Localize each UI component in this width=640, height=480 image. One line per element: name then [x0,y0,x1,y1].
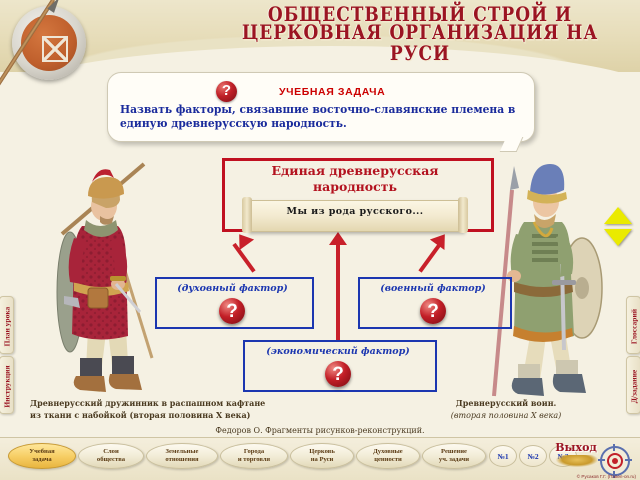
exit-ornament [556,455,598,467]
illustration-druzhinnik [48,162,166,400]
question-ball-icon-military[interactable] [420,298,446,324]
triangle-up-icon[interactable] [604,207,632,224]
caption-right-line-2: (вторая половина X века) [451,411,561,420]
slide-header: ОБЩЕСТВЕННЫЙ СТРОЙ И ЦЕРКОВНАЯ ОРГАНИЗАЦ… [0,0,640,72]
caption-left: Древнерусский дружинник в распашном кафт… [30,398,280,421]
task-label: УЧЕБНАЯ ЗАДАЧА [279,86,385,98]
nav-button-number-1-label: №1 [497,452,508,461]
caption-source: Федоров О. Фрагменты рисунков-реконструк… [160,425,480,437]
side-tab-glossariy-label: Глоссарий [630,299,639,355]
nav-button-sloi-obshchestva-label: Слои общества [97,448,125,463]
shield-inner [21,15,77,71]
task-bubble-header: УЧЕБНАЯ ЗАДАЧА [216,81,466,102]
unity-title-line-2: народность [313,179,397,194]
unity-title: Единая древнерусская народность [222,163,488,194]
nav-button-uchebnaya-zadacha[interactable]: Учебная задача [8,443,76,469]
copyright-text: © Русаков Г.Г. (Павел-on.ru) [577,474,636,479]
shield-boss-icon [42,36,68,62]
arrow-right-shaft [418,243,441,273]
factor-label-spiritual: (духовный фактор) [155,283,310,294]
caption-left-line-2: из ткани с набойкой (вторая половина X в… [30,410,250,420]
arrow-right-head [430,229,452,250]
nav-button-reshenie-uch-zadachi-label: Решение уч. задачи [439,448,469,463]
nav-button-duhovnye-cennosti-label: Духовные ценности [373,448,402,463]
side-tab-domashnee-zadanie-label: Д/задание [630,359,639,415]
target-cross-left [598,459,605,461]
presentation-slide: ОБЩЕСТВЕННЫЙ СТРОЙ И ЦЕРКОВНАЯ ОРГАНИЗАЦ… [0,0,640,480]
side-tab-instrukciya-label: Инструкция [3,359,12,415]
nav-button-number-1[interactable]: №1 [489,445,517,467]
nav-button-sloi-obshchestva[interactable]: Слои общества [78,443,144,469]
triangle-down-icon[interactable] [604,229,632,246]
nav-button-number-2[interactable]: №2 [519,445,547,467]
nav-button-cerkov-na-rusi[interactable]: Церковь на Руси [290,443,354,469]
caption-right-line-1: Древнерусский воин. [456,398,557,408]
factor-label-military: (военный фактор) [358,283,508,294]
target-icon[interactable] [600,446,630,476]
nav-button-number-2-label: №2 [527,452,538,461]
task-text: Назвать факторы, связавшие восточно-слав… [120,103,524,132]
arrow-left-shaft [232,243,255,273]
side-tab-domashnee-zadanie[interactable]: Д/задание [626,356,640,414]
caption-right: Древнерусский воин. (вторая половина X в… [396,398,616,421]
caption-left-line-1: Древнерусский дружинник в распашном кафт… [30,398,265,408]
target-cross-top [613,444,615,451]
task-bubble: УЧЕБНАЯ ЗАДАЧА Назвать факторы, связавши… [107,72,535,142]
arrow-center-shaft [336,244,340,342]
side-tab-glossariy[interactable]: Глоссарий [626,296,640,354]
nav-button-goroda-i-torgovlya-label: Города и торговля [238,448,270,463]
exit-label: Выход [550,441,602,454]
question-ball-icon-spiritual[interactable] [219,298,245,324]
nav-button-goroda-i-torgovlya[interactable]: Города и торговля [220,443,288,469]
arrow-center-head [329,232,347,245]
question-ball-icon [216,81,237,102]
nav-button-zemelnye-otnosheniya-label: Земельные отношения [165,448,198,463]
side-tab-instrukciya[interactable]: Инструкция [0,356,14,414]
nav-button-zemelnye-otnosheniya[interactable]: Земельные отношения [146,443,218,469]
question-ball-icon-economic[interactable] [325,361,351,387]
side-tab-plan-label: План урока [3,299,12,355]
page-title: ОБЩЕСТВЕННЫЙ СТРОЙ И ЦЕРКОВНАЯ ОРГАНИЗАЦ… [210,5,630,60]
scroll-text: Мы из рода русского... [248,206,462,217]
factor-label-economic: (экономический фактор) [243,346,433,357]
nav-button-cerkov-na-rusi-label: Церковь на Руси [309,448,335,463]
unity-title-line-1: Единая древнерусская [271,163,438,178]
nav-button-reshenie-uch-zadachi[interactable]: Решение уч. задачи [422,443,486,469]
nav-button-duhovnye-cennosti[interactable]: Духовные ценности [356,443,420,469]
title-line-2: ЦЕРКОВНАЯ ОРГАНИЗАЦИЯ НА РУСИ [210,23,630,65]
target-cross-right [625,459,632,461]
nav-button-uchebnaya-zadacha-label: Учебная задача [29,448,54,463]
side-tab-plan-uroka[interactable]: План урока [0,296,14,354]
bottom-navigation-bar: Учебная задача Слои общества Земельные о… [0,437,640,480]
